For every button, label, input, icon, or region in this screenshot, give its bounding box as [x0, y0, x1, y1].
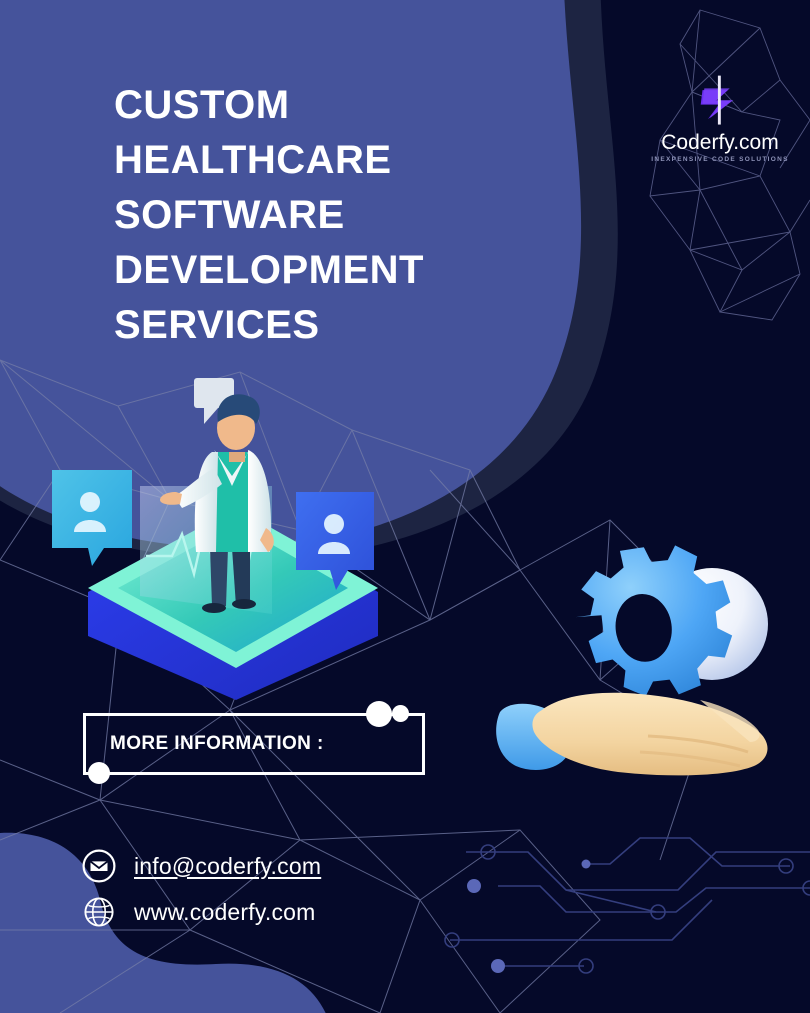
contact-list: info@coderfy.com www.coderfy.com [82, 843, 321, 935]
brand-logo: Coderfy.com INEXPENSIVE CODE SOLUTIONS [640, 72, 800, 163]
decor-dot-large [366, 701, 392, 727]
logo-name: Coderfy.com [640, 132, 800, 153]
contact-row-website[interactable]: www.coderfy.com [82, 889, 321, 935]
contact-website-text: www.coderfy.com [134, 899, 316, 926]
contact-row-email[interactable]: info@coderfy.com [82, 843, 321, 889]
headline-line-4: DEVELOPMENT [114, 243, 534, 298]
headline-line-5: SERVICES [114, 298, 534, 353]
more-information-label: MORE INFORMATION : [110, 733, 324, 755]
contact-email-text: info@coderfy.com [134, 853, 321, 880]
coderfy-chevron-mark-icon [688, 72, 751, 130]
headline: CUSTOM HEALTHCARE SOFTWARE DEVELOPMENT S… [114, 78, 534, 353]
logo-tagline: INEXPENSIVE CODE SOLUTIONS [640, 156, 800, 163]
envelope-icon [82, 849, 116, 883]
globe-icon [82, 895, 116, 929]
headline-line-3: SOFTWARE [114, 188, 534, 243]
headline-line-2: HEALTHCARE [114, 133, 534, 188]
decor-dot-left [88, 762, 110, 784]
poster-canvas: CUSTOM HEALTHCARE SOFTWARE DEVELOPMENT S… [0, 0, 810, 1013]
decor-dot-small [392, 705, 409, 722]
headline-line-1: CUSTOM [114, 78, 534, 133]
